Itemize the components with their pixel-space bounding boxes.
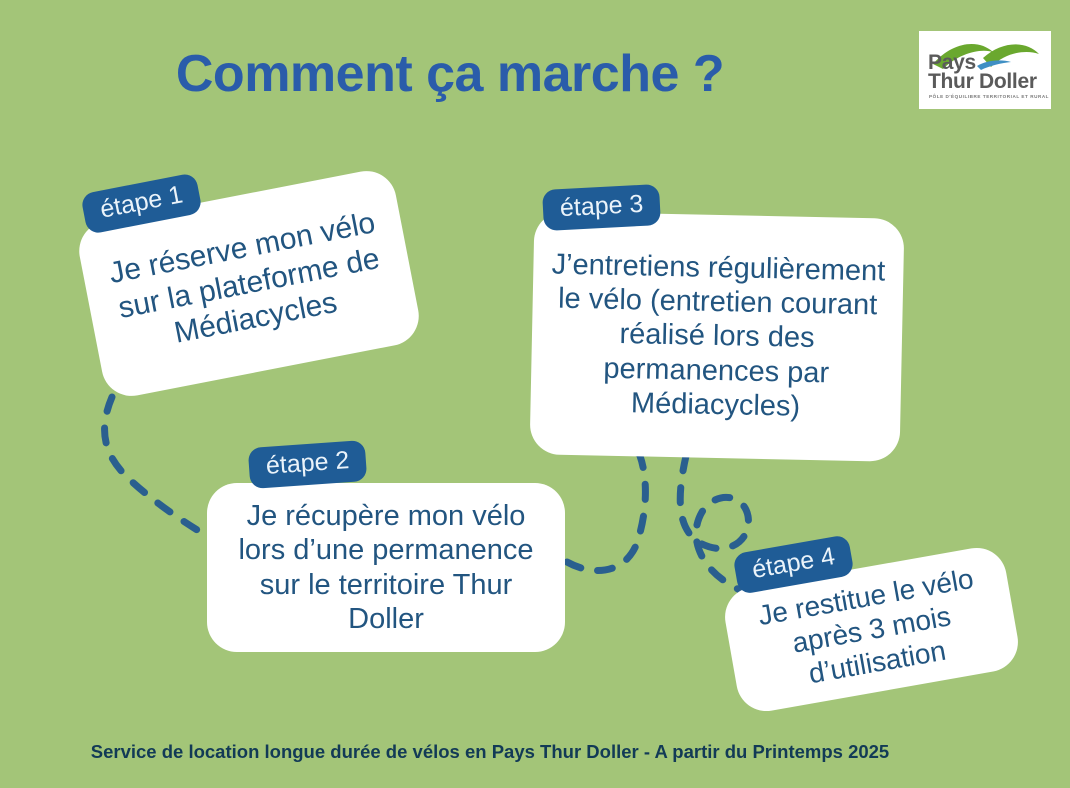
step-2-card-body: Je récupère mon vélo lors d’une permanen… <box>207 483 565 652</box>
step-3-card-body: J’entretiens régulièrement le vélo (entr… <box>529 211 904 462</box>
logo-tagline: PÔLE D'ÉQUILIBRE TERRITORIAL ET RURAL <box>929 94 1049 99</box>
page-title: Comment ça marche ? <box>0 44 900 104</box>
logo-pays-thur-doller: Pays Thur Doller PÔLE D'ÉQUILIBRE TERRIT… <box>919 31 1051 109</box>
step-2-badge: étape 2 <box>248 440 368 489</box>
footer-caption: Service de location longue durée de vélo… <box>0 741 980 763</box>
infographic-canvas: Comment ça marche ? Pays Thur Doller PÔL… <box>0 0 1070 788</box>
connector-step2-to-step3 <box>567 456 645 571</box>
step-3-text: J’entretiens régulièrement le vélo (entr… <box>530 247 904 426</box>
logo-line-2: Thur Doller <box>928 71 1037 92</box>
step-2-text: Je récupère mon vélo lors d’une permanen… <box>207 499 565 636</box>
step-3-badge: étape 3 <box>542 184 661 231</box>
